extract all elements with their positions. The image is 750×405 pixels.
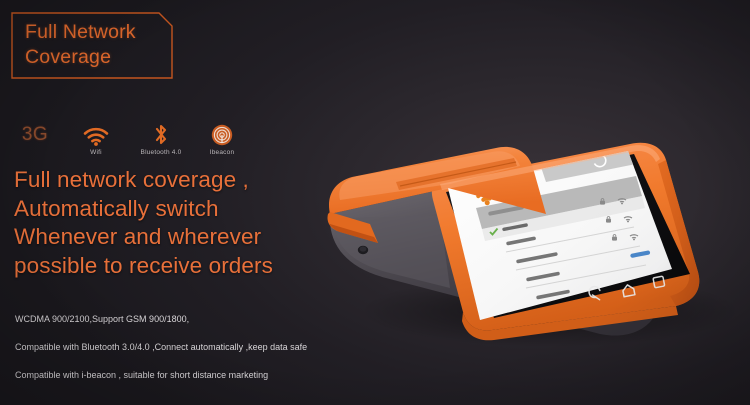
feature-wifi: Wifi	[72, 122, 120, 156]
ibeacon-icon	[196, 122, 248, 146]
page-title-line1: Full Network	[25, 21, 136, 43]
wifi-icon	[72, 122, 120, 146]
feature-ibeacon-caption: Ibeacon	[196, 149, 248, 156]
feature-3g: 3G	[14, 122, 56, 149]
page-title: Full Network Coverage	[25, 20, 175, 70]
spec-line-3: Compatible with i-beacon , suitable for …	[15, 369, 415, 381]
feature-ibeacon: Ibeacon	[196, 122, 248, 156]
3g-icon: 3G	[14, 122, 56, 146]
feature-icon-row: 3G Wifi Bluetooth 4.0	[14, 122, 264, 164]
title-box: Full Network Coverage	[11, 12, 173, 79]
page-title-line2: Coverage	[25, 45, 175, 70]
feature-bluetooth: Bluetooth 4.0	[132, 122, 190, 156]
sensor-hole-inner	[360, 246, 367, 251]
feature-bluetooth-caption: Bluetooth 4.0	[132, 149, 190, 156]
bluetooth-icon	[132, 122, 190, 146]
3g-icon-label: 3G	[22, 124, 48, 146]
handheld-pos-terminal	[300, 96, 750, 346]
feature-wifi-caption: Wifi	[72, 149, 120, 156]
